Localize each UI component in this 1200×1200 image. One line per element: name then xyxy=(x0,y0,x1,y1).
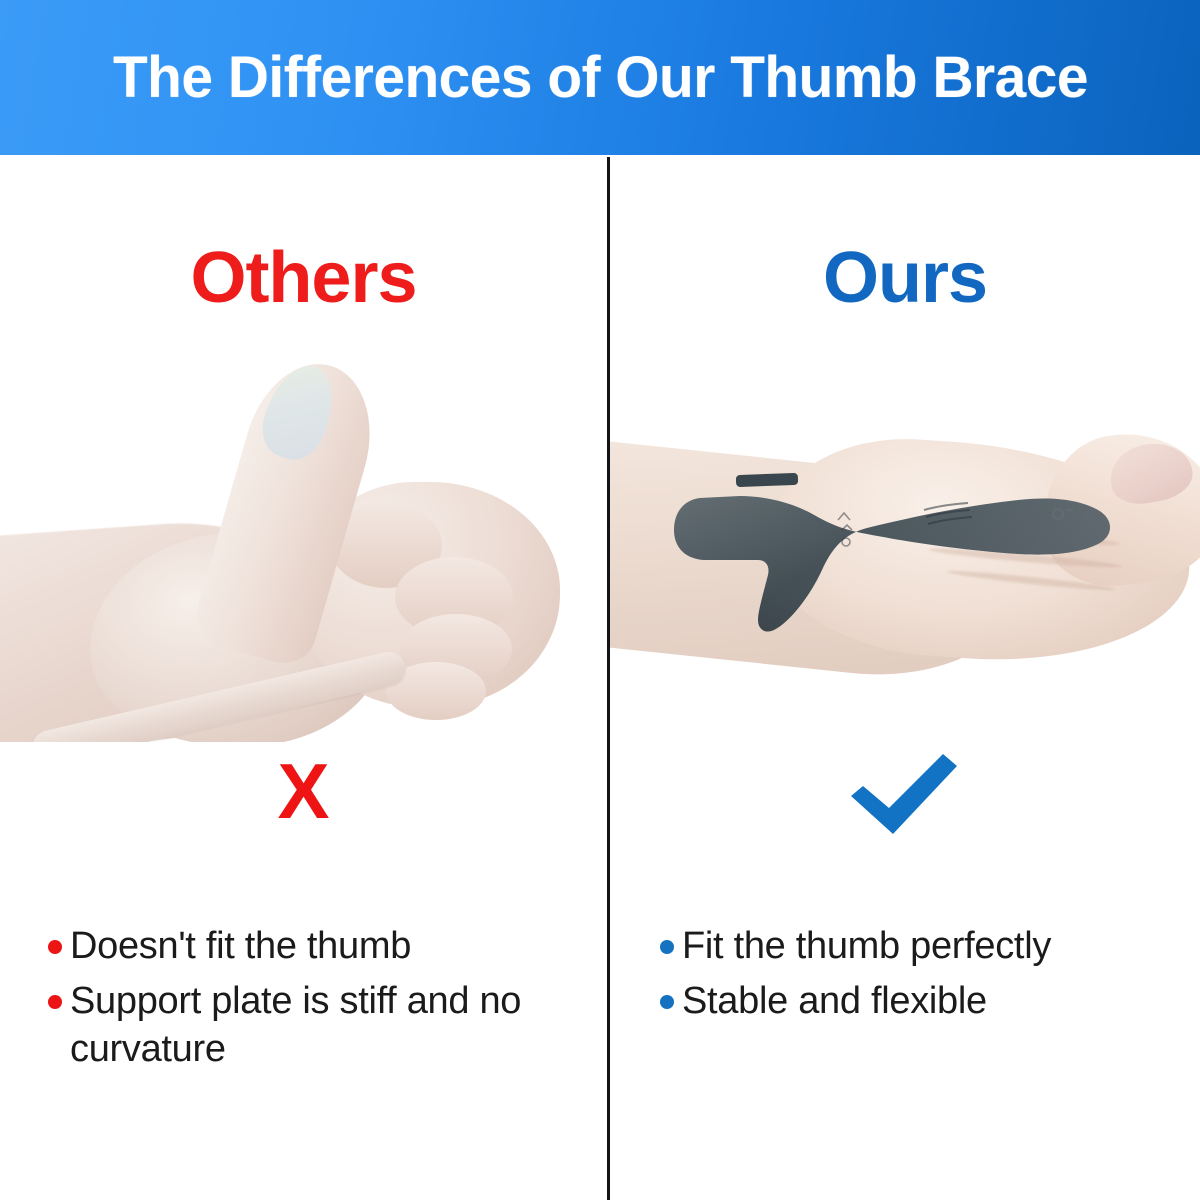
bullet-dot-icon xyxy=(48,940,62,954)
verdict-others: X xyxy=(0,752,607,830)
bullet-dot-icon xyxy=(660,995,674,1009)
contoured-thumb-brace xyxy=(662,460,1132,635)
bullet-text: Fit the thumb perfectly xyxy=(682,922,1051,971)
list-item: Fit the thumb perfectly xyxy=(660,922,1180,971)
comparison-panel-others: Others X Doesn' xyxy=(0,157,607,1200)
bullet-text: Stable and flexible xyxy=(682,977,987,1026)
bullet-dot-icon xyxy=(48,995,62,1009)
list-item: Doesn't fit the thumb xyxy=(48,922,577,971)
panel-heading-ours: Ours xyxy=(610,242,1200,314)
page-title: The Differences of Our Thumb Brace xyxy=(112,49,1087,107)
list-item: Stable and flexible xyxy=(660,977,1180,1026)
header-banner: The Differences of Our Thumb Brace xyxy=(0,0,1200,155)
infographic-page: The Differences of Our Thumb Brace Other… xyxy=(0,0,1200,1200)
bullet-dot-icon xyxy=(660,940,674,954)
cross-mark-icon: X xyxy=(277,747,329,835)
panel-heading-others: Others xyxy=(0,242,607,314)
bullet-text: Doesn't fit the thumb xyxy=(70,922,411,971)
product-photo-ours xyxy=(610,422,1200,722)
bullet-text: Support plate is stiff and no curvature xyxy=(70,977,577,1074)
brace-strap-tab xyxy=(736,473,798,487)
check-mark-icon xyxy=(845,752,965,838)
list-item: Support plate is stiff and no curvature xyxy=(48,977,577,1074)
product-photo-others xyxy=(0,352,607,742)
bullet-list-others: Doesn't fit the thumb Support plate is s… xyxy=(0,922,607,1080)
verdict-ours xyxy=(610,752,1200,842)
brace-silhouette-icon xyxy=(662,460,1132,635)
check-mark-wrapper xyxy=(845,752,965,838)
comparison-panel-ours: Ours xyxy=(610,157,1200,1200)
bullet-list-ours: Fit the thumb perfectly Stable and flexi… xyxy=(610,922,1200,1031)
